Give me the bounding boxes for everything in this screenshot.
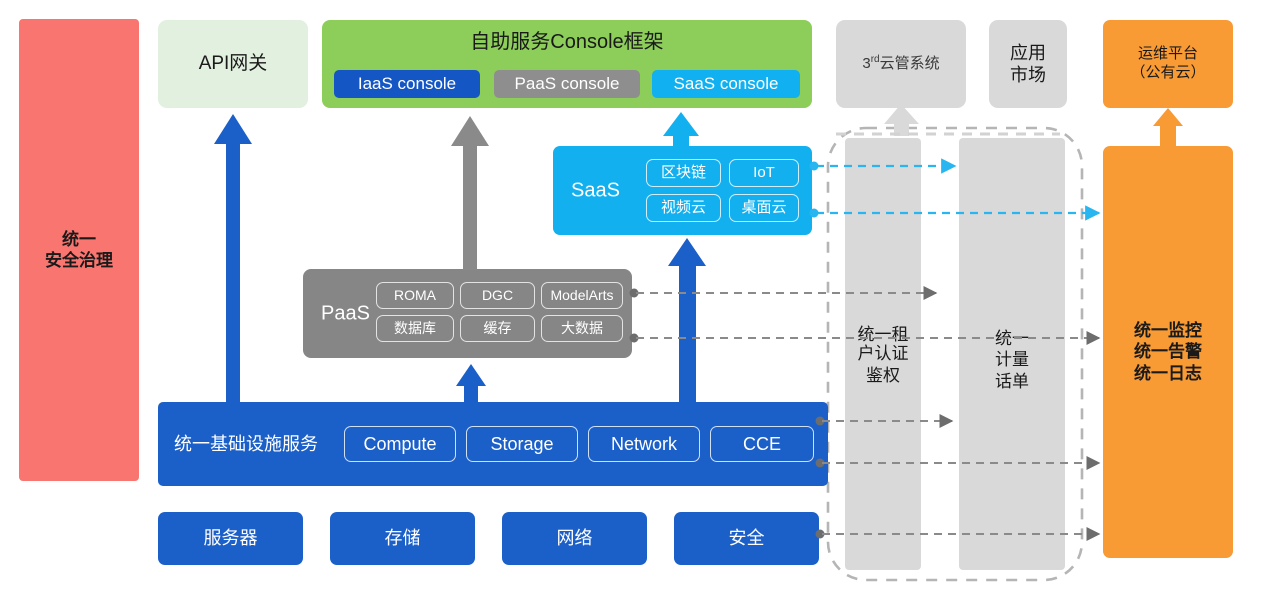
paas-console-chip[interactable]: PaaS console: [494, 70, 640, 98]
arrow-infra-to-api-gateway: [214, 114, 252, 402]
unified-tenant-auth-column: 统一租 户认证 鉴权: [845, 138, 921, 570]
paas-tag-dgc[interactable]: DGC: [460, 282, 535, 309]
paas-block: PaaS ROMA DGC ModelArts 数据库 缓存 大数据: [303, 269, 632, 358]
ops-platform-line1: 运维平台: [1138, 45, 1198, 64]
architecture-diagram: 统一 安全治理 API网关 自助服务Console框架 IaaS console…: [0, 0, 1265, 605]
paas-tag-database[interactable]: 数据库: [376, 315, 454, 342]
hardware-network-box: 网络: [502, 512, 647, 565]
saas-tag-iot[interactable]: IoT: [729, 159, 799, 187]
saas-tag-desktop-cloud[interactable]: 桌面云: [729, 194, 799, 222]
security-pillar-line2: 安全治理: [45, 250, 113, 271]
monitoring-line2: 统一告警: [1134, 341, 1202, 362]
metering-line2: 计量: [995, 349, 1029, 370]
tenant-auth-line3: 鉴权: [866, 365, 900, 386]
hardware-security-box: 安全: [674, 512, 819, 565]
saas-tag-blockchain[interactable]: 区块链: [646, 159, 721, 187]
infra-tag-storage[interactable]: Storage: [466, 426, 578, 462]
saas-label: SaaS: [571, 178, 620, 203]
paas-tag-roma[interactable]: ROMA: [376, 282, 454, 309]
ops-platform-box: 运维平台 （公有云）: [1103, 20, 1233, 108]
saas-tag-video-cloud[interactable]: 视频云: [646, 194, 721, 222]
paas-tag-bigdata[interactable]: 大数据: [541, 315, 623, 342]
arrow-ops-pillar-to-ops-platform: [1153, 108, 1183, 148]
saas-block: SaaS 区块链 IoT 视频云 桌面云: [553, 146, 812, 235]
ops-platform-line2: （公有云）: [1130, 64, 1205, 83]
unified-monitoring-pillar: 统一监控 统一告警 统一日志: [1103, 146, 1233, 558]
infra-tag-compute[interactable]: Compute: [344, 426, 456, 462]
arrow-infra-to-paas: [456, 364, 486, 403]
console-framework-title: 自助服务Console框架: [322, 30, 812, 55]
third-party-suffix: 云管系统: [880, 55, 940, 72]
app-market-box: 应用 市场: [989, 20, 1067, 108]
third-party-superscript: rd: [871, 54, 880, 65]
metering-line1: 统一: [995, 328, 1029, 349]
tenant-auth-line2: 户认证: [858, 343, 909, 364]
arrow-infra-to-saas: [668, 238, 706, 403]
arrow-paas-to-console: [451, 116, 489, 270]
unified-metering-column: 统一 计量 话单: [959, 138, 1065, 570]
hardware-storage-box: 存储: [330, 512, 475, 565]
api-gateway-label: API网关: [199, 52, 268, 76]
unified-infrastructure-bar: 统一基础设施服务 Compute Storage Network CCE: [158, 402, 828, 486]
arrow-saas-to-saas-console: [663, 112, 699, 147]
app-market-line2: 市场: [1010, 64, 1046, 87]
metering-line3: 话单: [995, 371, 1029, 392]
paas-tag-cache[interactable]: 缓存: [460, 315, 535, 342]
paas-tag-modelarts[interactable]: ModelArts: [541, 282, 623, 309]
third-party-prefix: 3: [862, 55, 870, 72]
third-party-cloud-management-box: 3rd云管系统: [836, 20, 966, 108]
infrastructure-label: 统一基础设施服务: [174, 433, 318, 456]
iaas-console-chip[interactable]: IaaS console: [334, 70, 480, 98]
infra-tag-cce[interactable]: CCE: [710, 426, 814, 462]
infra-tag-network[interactable]: Network: [588, 426, 700, 462]
security-pillar-line1: 统一: [62, 229, 96, 250]
self-service-console-framework: 自助服务Console框架 IaaS console PaaS console …: [322, 20, 812, 108]
monitoring-line3: 统一日志: [1134, 363, 1202, 384]
tenant-auth-line1: 统一租: [858, 324, 909, 345]
third-party-label: 3rd云管系统: [862, 54, 939, 74]
api-gateway-box: API网关: [158, 20, 308, 108]
arrow-to-third-party-cloud: [884, 104, 919, 136]
saas-console-chip[interactable]: SaaS console: [652, 70, 800, 98]
app-market-line1: 应用: [1010, 42, 1046, 65]
hardware-server-box: 服务器: [158, 512, 303, 565]
paas-label: PaaS: [321, 301, 370, 326]
unified-security-governance-pillar: 统一 安全治理: [19, 19, 139, 481]
monitoring-line1: 统一监控: [1134, 320, 1202, 341]
